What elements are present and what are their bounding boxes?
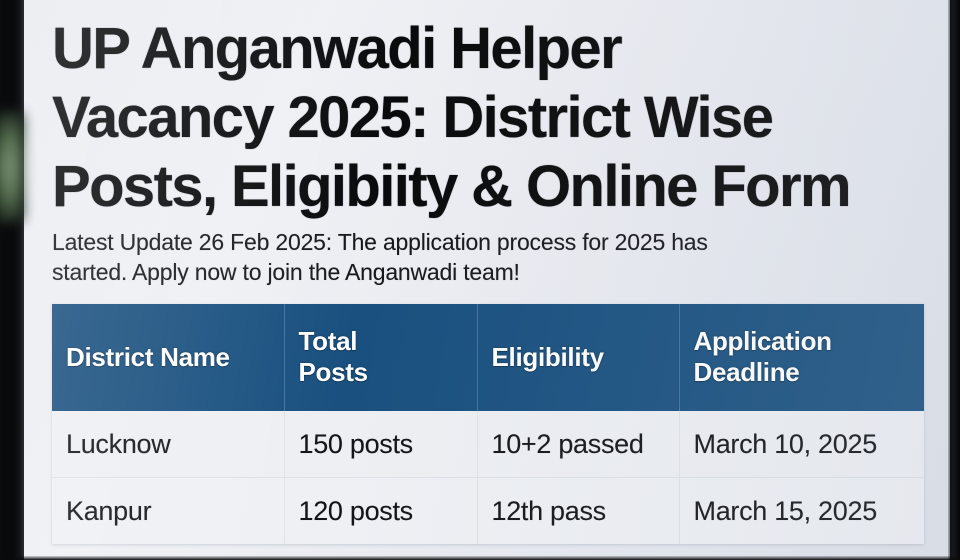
column-header-district-name[interactable]: District Name bbox=[52, 304, 284, 411]
cell-district-name: Kanpur bbox=[52, 478, 284, 545]
latest-update-note: Latest Update 26 Feb 2025: The applicati… bbox=[52, 227, 948, 287]
cell-application-deadline: March 10, 2025 bbox=[679, 411, 924, 478]
cell-total-posts: 120 posts bbox=[284, 478, 477, 545]
column-header-eligibility[interactable]: Eligibility bbox=[477, 304, 679, 411]
cell-district-name: Lucknow bbox=[52, 411, 284, 478]
page-title: UP Anganwadi Helper Vacancy 2025: Distri… bbox=[52, 14, 948, 221]
column-header-total-posts[interactable]: Total Posts bbox=[284, 304, 477, 411]
cell-total-posts: 150 posts bbox=[284, 411, 477, 478]
table-header-row: District Name Total Posts Eligibility Ap… bbox=[52, 304, 924, 411]
cell-application-deadline: March 15, 2025 bbox=[679, 478, 924, 545]
article-page: UP Anganwadi Helper Vacancy 2025: Distri… bbox=[24, 0, 950, 560]
cell-eligibility: 10+2 passed bbox=[477, 411, 679, 478]
screen-bezel-bottom bbox=[0, 556, 960, 560]
screen-bezel-right bbox=[948, 0, 960, 560]
table-row: Lucknow 150 posts 10+2 passed March 10, … bbox=[52, 411, 924, 478]
bezel-reflection-glare bbox=[0, 112, 24, 222]
table-row: Kanpur 120 posts 12th pass March 15, 202… bbox=[52, 478, 924, 545]
photographed-screen: UP Anganwadi Helper Vacancy 2025: Distri… bbox=[0, 0, 960, 560]
article-header: UP Anganwadi Helper Vacancy 2025: Distri… bbox=[52, 14, 948, 287]
table-header: District Name Total Posts Eligibility Ap… bbox=[52, 304, 924, 411]
cell-eligibility: 12th pass bbox=[477, 478, 679, 545]
screen-bezel-left bbox=[0, 0, 24, 560]
table-body: Lucknow 150 posts 10+2 passed March 10, … bbox=[52, 411, 924, 544]
column-header-application-deadline[interactable]: Application Deadline bbox=[679, 304, 924, 411]
district-wise-vacancy-table: District Name Total Posts Eligibility Ap… bbox=[52, 304, 924, 544]
